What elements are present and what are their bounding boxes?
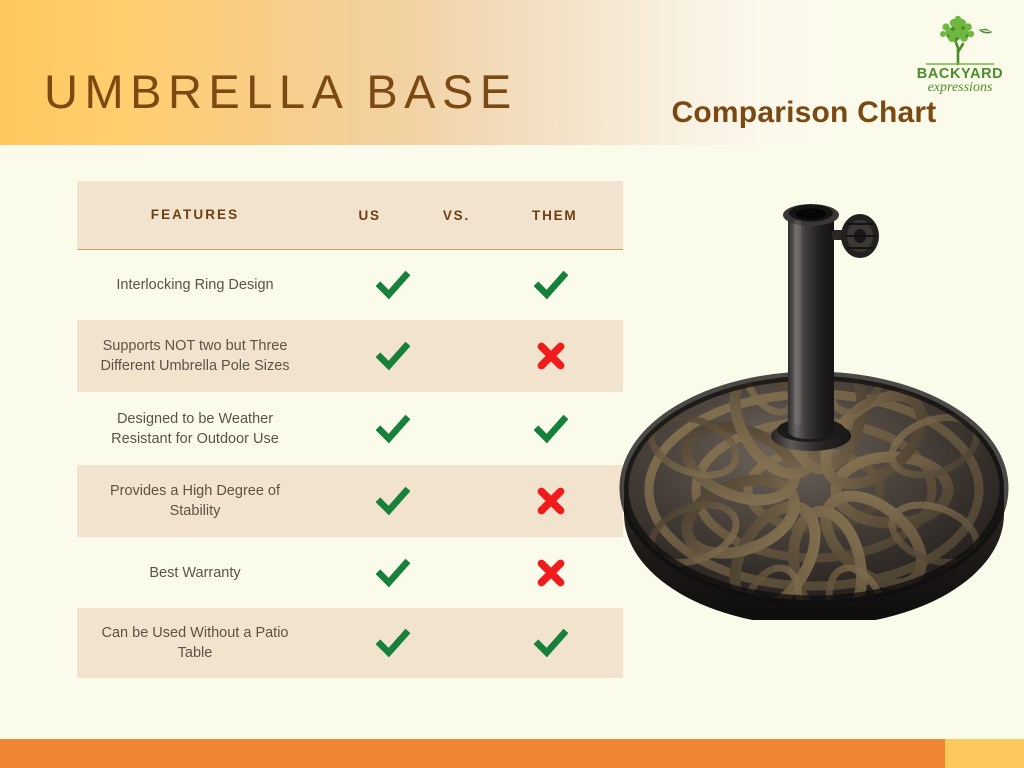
table-row: Best Warranty bbox=[77, 537, 623, 608]
marks-cell bbox=[313, 392, 623, 465]
svg-text:expressions: expressions bbox=[928, 80, 993, 94]
column-header-features: FEATURES bbox=[77, 181, 313, 249]
page-title: UMBRELLA BASE bbox=[44, 64, 518, 119]
check-icon bbox=[376, 339, 410, 373]
check-icon bbox=[534, 626, 568, 660]
check-icon bbox=[534, 268, 568, 302]
umbrella-base-photo bbox=[604, 168, 1024, 620]
check-icon bbox=[376, 556, 410, 590]
table-row: Interlocking Ring Design bbox=[77, 250, 623, 320]
marks-cell bbox=[313, 608, 623, 678]
feature-label: Best Warranty bbox=[77, 537, 313, 608]
check-icon bbox=[376, 626, 410, 660]
check-icon bbox=[376, 412, 410, 446]
comparison-table: FEATURES US VS. THEM Interlocking Ring D… bbox=[77, 181, 623, 678]
table-header-row: FEATURES US VS. THEM bbox=[77, 181, 623, 250]
marks-cell bbox=[313, 250, 623, 320]
check-icon bbox=[376, 484, 410, 518]
cross-icon bbox=[534, 556, 568, 590]
column-header-vs: VS. bbox=[443, 208, 470, 223]
check-icon bbox=[534, 412, 568, 446]
marks-cell bbox=[313, 465, 623, 537]
column-header-us: US bbox=[359, 208, 381, 223]
feature-label: Provides a High Degree of Stability bbox=[77, 465, 313, 537]
check-icon bbox=[376, 268, 410, 302]
feature-label: Can be Used Without a Patio Table bbox=[77, 608, 313, 678]
cross-icon bbox=[534, 484, 568, 518]
table-row: Provides a High Degree of Stability bbox=[77, 465, 623, 537]
marks-cell bbox=[313, 320, 623, 392]
table-row: Supports NOT two but Three Different Umb… bbox=[77, 320, 623, 392]
brand-logo: BACKYARD expressions bbox=[906, 8, 1014, 94]
feature-label: Supports NOT two but Three Different Umb… bbox=[77, 320, 313, 392]
footer-bar-accent bbox=[945, 739, 1024, 768]
feature-label: Interlocking Ring Design bbox=[77, 250, 313, 320]
comparison-chart-heading: Comparison Chart bbox=[624, 96, 984, 130]
feature-label: Designed to be Weather Resistant for Out… bbox=[77, 392, 313, 465]
table-row: Designed to be Weather Resistant for Out… bbox=[77, 392, 623, 465]
table-row: Can be Used Without a Patio Table bbox=[77, 608, 623, 678]
column-header-them: THEM bbox=[532, 208, 577, 223]
footer-bar bbox=[0, 739, 945, 768]
marks-cell bbox=[313, 537, 623, 608]
cross-icon bbox=[534, 339, 568, 373]
column-headers-comparison: US VS. THEM bbox=[313, 181, 623, 249]
